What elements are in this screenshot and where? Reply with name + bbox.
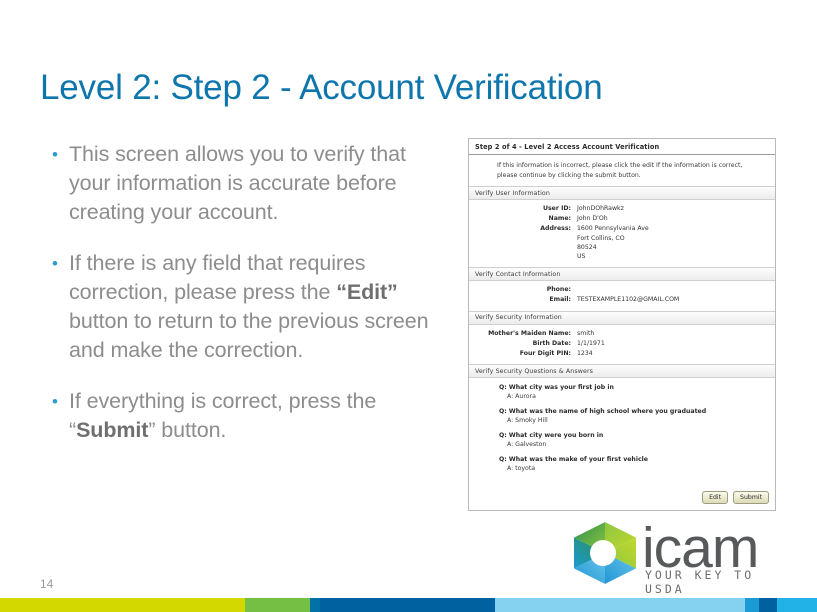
section-header: Verify User Information (469, 186, 775, 200)
field-row: Phone: (469, 285, 775, 294)
section-header-security-questions: Verify Security Questions & Answers (469, 364, 775, 378)
security-answer: A: Smoky Hill (499, 417, 775, 426)
security-answer: A: Aurora (499, 393, 775, 402)
field-label: Address: (469, 224, 577, 261)
field-row: User ID:JohnDOhRawkz (469, 204, 775, 213)
field-value: 1600 Pennsylvania Ave Fort Collins, CO 8… (577, 224, 649, 261)
icam-hexagon-pinwheel-icon (572, 522, 638, 584)
section-header: Verify Security Information (469, 311, 775, 325)
bullet-item: •This screen allows you to verify that y… (52, 140, 442, 227)
bullet-item: •If there is any field that requires cor… (52, 249, 442, 365)
field-value: TESTEXAMPLE1102@GMAIL.COM (577, 295, 679, 304)
submit-button[interactable]: Submit (733, 491, 769, 505)
bullet-span: This screen allows you to verify that yo… (69, 142, 406, 224)
bullet-list: •This screen allows you to verify that y… (52, 140, 442, 467)
field-label: Phone: (469, 285, 577, 294)
footer-bar-segment (495, 598, 745, 612)
field-row: Mother's Maiden Name:smith (469, 329, 775, 338)
icam-logo: icam YOUR KEY TO USDA (572, 520, 784, 586)
security-answer: A: Galveston (499, 441, 775, 450)
section-header: Verify Contact Information (469, 267, 775, 281)
field-value: smith (577, 329, 594, 338)
footer-color-bar (0, 598, 817, 612)
field-group: Phone:Email:TESTEXAMPLE1102@GMAIL.COM (469, 281, 775, 310)
app-button-row: Edit Submit (702, 491, 769, 505)
security-question: Q: What city was your first job in (499, 384, 775, 393)
edit-button[interactable]: Edit (702, 491, 728, 505)
embedded-app-screenshot: Step 2 of 4 - Level 2 Access Account Ver… (468, 138, 776, 511)
app-sections: Verify User InformationUser ID:JohnDOhRa… (469, 186, 775, 364)
footer-bar-segment (759, 598, 777, 612)
bullet-span: ” button. (148, 418, 226, 442)
bullet-dot-icon: • (52, 140, 69, 169)
footer-bar-segment (320, 598, 495, 612)
field-row: Address:1600 Pennsylvania Ave Fort Colli… (469, 224, 775, 261)
bullet-text: If there is any field that requires corr… (69, 249, 442, 365)
field-group: User ID:JohnDOhRawkzName:John D'OhAddres… (469, 200, 775, 267)
bullet-emphasis: Submit (76, 418, 148, 442)
field-label: Four Digit PIN: (469, 349, 577, 358)
field-value: JohnDOhRawkz (577, 204, 624, 213)
footer-bar-segment (777, 598, 817, 612)
bullet-emphasis: “Edit” (336, 280, 398, 304)
bullet-span: If there is any field that requires corr… (69, 251, 365, 304)
field-group: Mother's Maiden Name:smithBirth Date:1/1… (469, 325, 775, 365)
security-question: Q: What was the name of high school wher… (499, 408, 775, 417)
field-value: John D'Oh (577, 214, 608, 223)
bullet-dot-icon: • (52, 249, 69, 278)
security-qa-list: Q: What city was your first job inA: Aur… (469, 378, 775, 486)
field-value: 1234 (577, 349, 593, 358)
security-qa-item: Q: What city were you born inA: Galvesto… (469, 432, 775, 449)
field-label: Email: (469, 295, 577, 304)
footer-bar-segment (245, 598, 310, 612)
field-label: Birth Date: (469, 339, 577, 348)
field-row: Email:TESTEXAMPLE1102@GMAIL.COM (469, 295, 775, 304)
security-answer: A: toyota (499, 465, 775, 474)
field-value: 1/1/1971 (577, 339, 605, 348)
footer-bar-segment (0, 598, 245, 612)
security-qa-item: Q: What was the make of your first vehic… (469, 456, 775, 473)
field-label: Mother's Maiden Name: (469, 329, 577, 338)
app-header-title: Step 2 of 4 - Level 2 Access Account Ver… (469, 139, 775, 155)
footer-bar-segment (310, 598, 320, 612)
field-row: Birth Date:1/1/1971 (469, 339, 775, 348)
field-row: Name:John D'Oh (469, 214, 775, 223)
bullet-dot-icon: • (52, 387, 69, 416)
bullet-item: •If everything is correct, press the “Su… (52, 387, 442, 445)
bullet-text: This screen allows you to verify that yo… (69, 140, 442, 227)
footer-bar-segment (745, 598, 759, 612)
field-row: Four Digit PIN:1234 (469, 349, 775, 358)
app-intro-text: If this information is incorrect, please… (469, 155, 775, 186)
field-label: User ID: (469, 204, 577, 213)
field-label: Name: (469, 214, 577, 223)
security-question: Q: What was the make of your first vehic… (499, 456, 775, 465)
security-question: Q: What city were you born in (499, 432, 775, 441)
bullet-text: If everything is correct, press the “Sub… (69, 387, 442, 445)
security-qa-item: Q: What city was your first job inA: Aur… (469, 384, 775, 401)
security-qa-item: Q: What was the name of high school wher… (469, 408, 775, 425)
bullet-span: button to return to the previous screen … (69, 309, 428, 362)
slide-page-number: 14 (40, 577, 53, 591)
icam-tagline: YOUR KEY TO USDA (645, 568, 784, 596)
page-title: Level 2: Step 2 - Account Verification (40, 68, 602, 108)
